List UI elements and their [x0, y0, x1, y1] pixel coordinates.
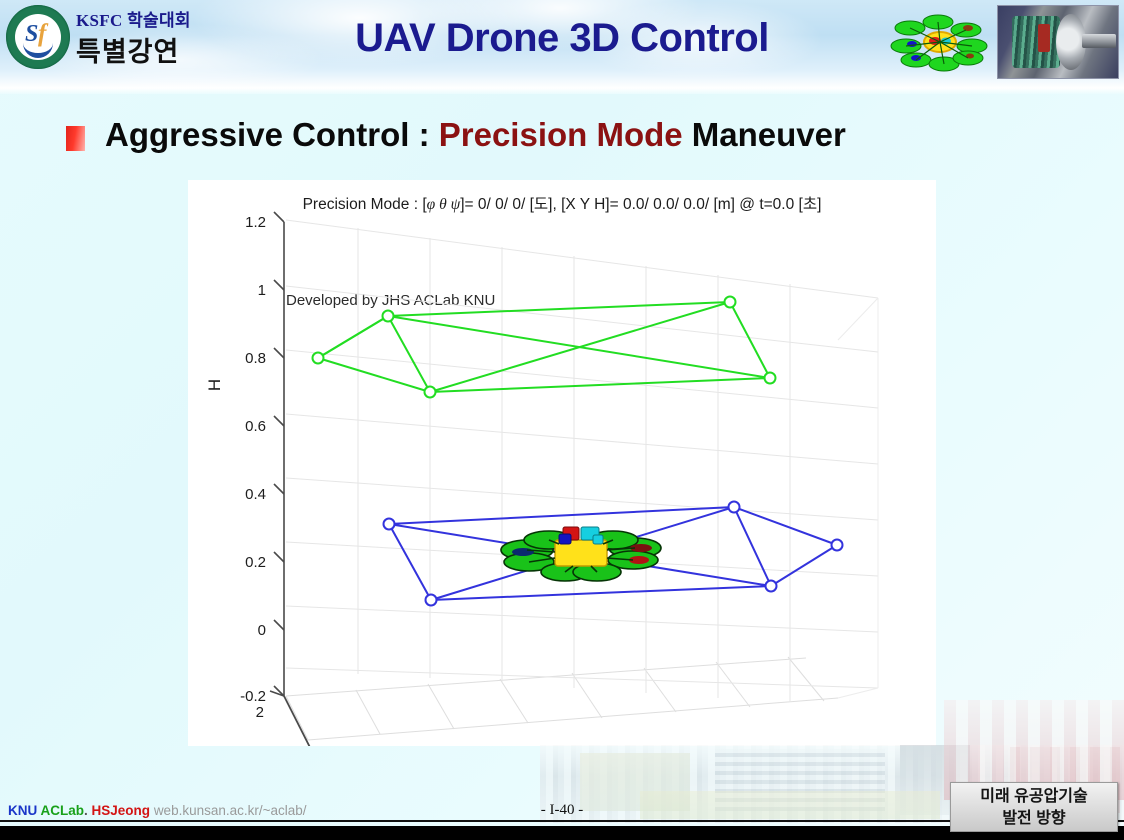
drone-topview-logo-icon	[886, 12, 994, 74]
bullet-square-icon	[66, 126, 85, 151]
h-tick-0.6: 0.6	[245, 418, 266, 435]
motor-shaft	[1082, 34, 1116, 48]
h-tick-0.2: 0.2	[245, 554, 266, 571]
h-tick-1: 1	[258, 282, 266, 299]
matlab-figure: Precision Mode : [φ θ ψ]= 0/ 0/ 0/ [도], …	[188, 180, 936, 746]
section-heading: Aggressive Control : Precision Mode Mane…	[105, 116, 846, 154]
heading-part-3: Maneuver	[683, 116, 846, 153]
motor-photo	[997, 5, 1119, 79]
h-tick-0.4: 0.4	[245, 486, 266, 503]
header-underline	[0, 88, 1124, 94]
heading-accent: Precision Mode	[439, 116, 683, 153]
slide: S f KSFC 학술대회 특별강연 UAV Drone 3D Control	[0, 0, 1124, 840]
h-tick-0: 0	[258, 622, 266, 639]
h-axis-ticks	[274, 212, 284, 696]
motor-coil	[1012, 16, 1060, 68]
h-tick--0.2: -0.2	[240, 688, 266, 705]
heading-part-1: Aggressive Control :	[105, 116, 439, 153]
green-trajectory-nodes	[313, 297, 776, 398]
y-tick-2: 2	[256, 704, 264, 721]
h-tick-0.8: 0.8	[245, 350, 266, 367]
drone-model-icon	[493, 518, 669, 586]
right-wall-grid	[838, 298, 878, 698]
badge-line2: 발전 방향	[951, 808, 1117, 830]
h-tick-1.2: 1.2	[245, 214, 266, 231]
badge-line1: 미래 유공압기술	[951, 786, 1117, 808]
motor-red-part	[1038, 24, 1050, 52]
wall-grid	[286, 220, 878, 702]
conference-badge: 미래 유공압기술 발전 방향	[950, 782, 1118, 832]
h-axis-label: H	[205, 379, 224, 391]
axes-3d: 1.2 1 0.8 0.6 0.4 0.2 0 -0.2 H 2 0 -2	[188, 180, 936, 746]
